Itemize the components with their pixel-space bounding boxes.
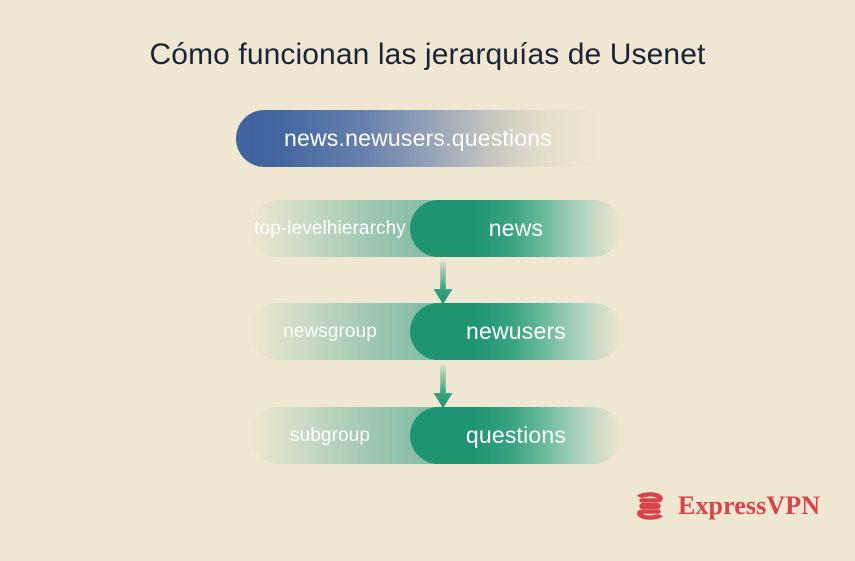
level-label-line-1: top-level [254, 218, 327, 240]
usenet-hierarchy-infographic: Cómo funcionan las jerarquías de Usenet … [0, 0, 855, 561]
hierarchy-level-row-subgroup: subgroup questions [250, 407, 622, 464]
hierarchy-level-row-top-level: top-level hierarchy news [250, 200, 622, 257]
level-label-newsgroup: newsgroup [250, 303, 410, 360]
level-value-text: questions [466, 422, 566, 449]
level-label-line-1: subgroup [290, 425, 370, 447]
level-label-line-1: newsgroup [283, 321, 377, 343]
arrow-down-1 [430, 259, 456, 305]
page-title: Cómo funcionan las jerarquías de Usenet [0, 38, 855, 72]
arrow-down-2 [430, 363, 456, 409]
level-value-text: news [489, 215, 544, 242]
level-label-subgroup: subgroup [250, 407, 410, 464]
level-value-questions: questions [410, 407, 622, 464]
full-newsgroup-name-pill: news.newusers.questions [236, 110, 614, 167]
expressvpn-logo: ExpressVPN [633, 486, 820, 526]
level-value-text: newusers [466, 318, 566, 345]
level-label-line-2: hierarchy [327, 218, 406, 240]
level-label-top-level-hierarchy: top-level hierarchy [250, 200, 410, 257]
level-value-newusers: newusers [410, 303, 622, 360]
expressvpn-wordmark: ExpressVPN [678, 491, 820, 521]
expressvpn-e-logo-icon [633, 489, 667, 523]
level-value-news: news [410, 200, 622, 257]
full-newsgroup-name-label: news.newusers.questions [284, 125, 566, 152]
hierarchy-level-row-newsgroup: newsgroup newusers [250, 303, 622, 360]
hierarchy-diagram: news.newusers.questions top-level hierar… [0, 105, 855, 475]
